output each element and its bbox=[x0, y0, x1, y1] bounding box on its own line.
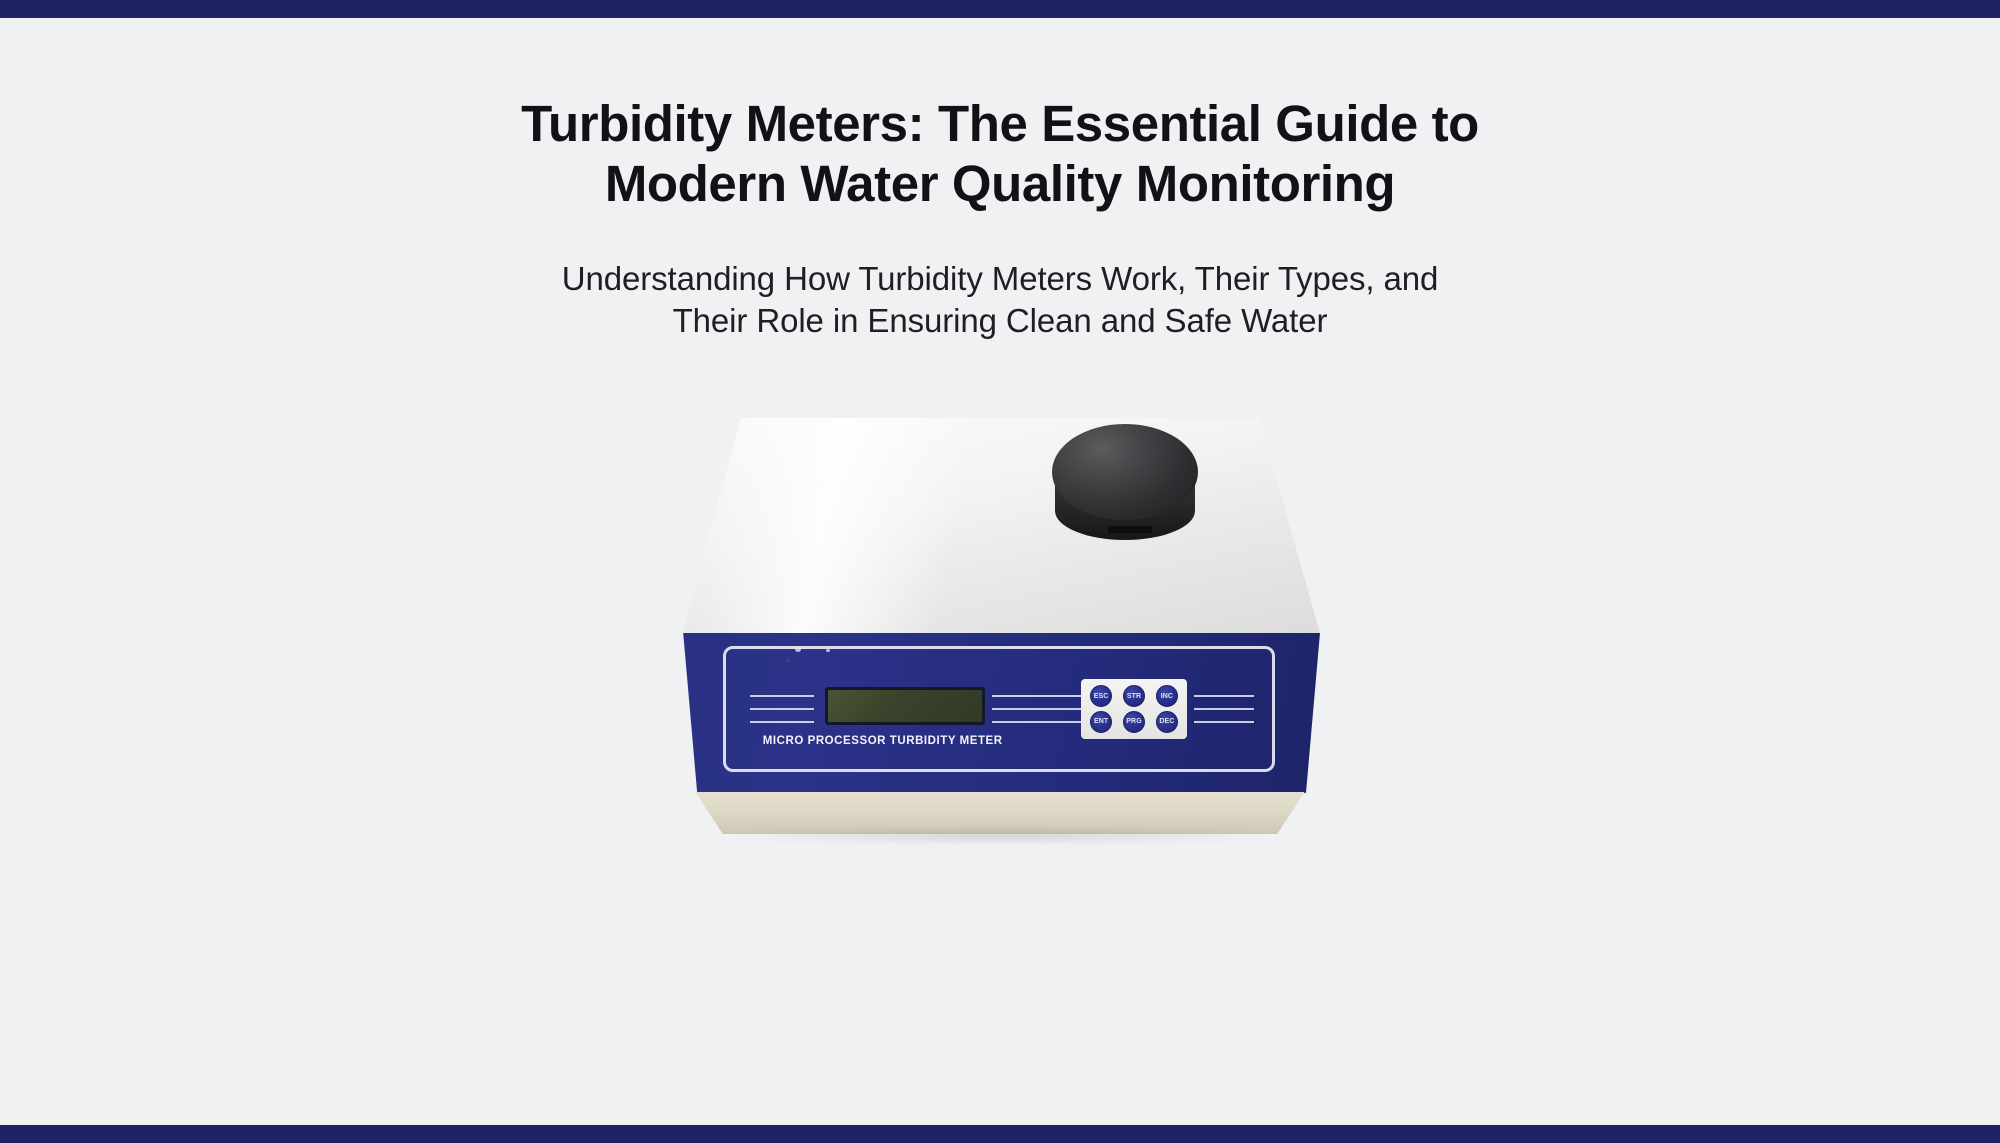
cap-top-surface bbox=[1052, 424, 1198, 520]
key-inc[interactable]: INC bbox=[1156, 685, 1178, 707]
panel-rule bbox=[1194, 721, 1254, 723]
key-ent[interactable]: ENT bbox=[1090, 711, 1112, 733]
page-title-line-1: Turbidity Meters: The Essential Guide to bbox=[521, 95, 1479, 152]
hero-text-block: Turbidity Meters: The Essential Guide to… bbox=[450, 94, 1550, 342]
device-model-caption: MICRO PROCESSOR TURBIDITY METER bbox=[763, 735, 1003, 747]
keypad[interactable]: ESC STR INC ENT PRG DEC bbox=[1081, 679, 1187, 739]
turbidity-meter-device: ESC STR INC ENT PRG DEC MICRO PROCESSOR … bbox=[680, 418, 1320, 838]
device-drop-shadow bbox=[731, 828, 1269, 844]
key-str[interactable]: STR bbox=[1123, 685, 1145, 707]
turbidity-meter-image: ESC STR INC ENT PRG DEC MICRO PROCESSOR … bbox=[680, 418, 1320, 838]
page-subtitle-line-2: Their Role in Ensuring Clean and Safe Wa… bbox=[673, 302, 1328, 339]
panel-speck-a bbox=[795, 647, 801, 652]
top-accent-bar bbox=[0, 0, 2000, 18]
panel-rules-right bbox=[1194, 695, 1254, 723]
cap-slot-notch bbox=[1108, 526, 1152, 533]
panel-rule bbox=[750, 708, 814, 710]
page-title: Turbidity Meters: The Essential Guide to… bbox=[450, 94, 1550, 214]
main-content: Turbidity Meters: The Essential Guide to… bbox=[0, 18, 2000, 1125]
page-subtitle: Understanding How Turbidity Meters Work,… bbox=[450, 258, 1550, 341]
lcd-display bbox=[825, 687, 985, 725]
key-dec[interactable]: DEC bbox=[1156, 711, 1178, 733]
key-prg[interactable]: PRG bbox=[1123, 711, 1145, 733]
panel-rule bbox=[1194, 708, 1254, 710]
page-subtitle-line-1: Understanding How Turbidity Meters Work,… bbox=[562, 260, 1439, 297]
bottom-accent-bar bbox=[0, 1125, 2000, 1143]
key-esc[interactable]: ESC bbox=[1090, 685, 1112, 707]
sample-chamber-cap[interactable] bbox=[1052, 424, 1198, 550]
device-top-lid bbox=[680, 418, 1320, 633]
panel-rule bbox=[750, 695, 814, 697]
panel-rules-left bbox=[750, 695, 814, 723]
panel-rule bbox=[750, 721, 814, 723]
panel-rule bbox=[1194, 695, 1254, 697]
page-root: Turbidity Meters: The Essential Guide to… bbox=[0, 0, 2000, 1143]
device-front-panel: ESC STR INC ENT PRG DEC MICRO PROCESSOR … bbox=[683, 633, 1320, 793]
page-title-line-2: Modern Water Quality Monitoring bbox=[605, 155, 1395, 212]
